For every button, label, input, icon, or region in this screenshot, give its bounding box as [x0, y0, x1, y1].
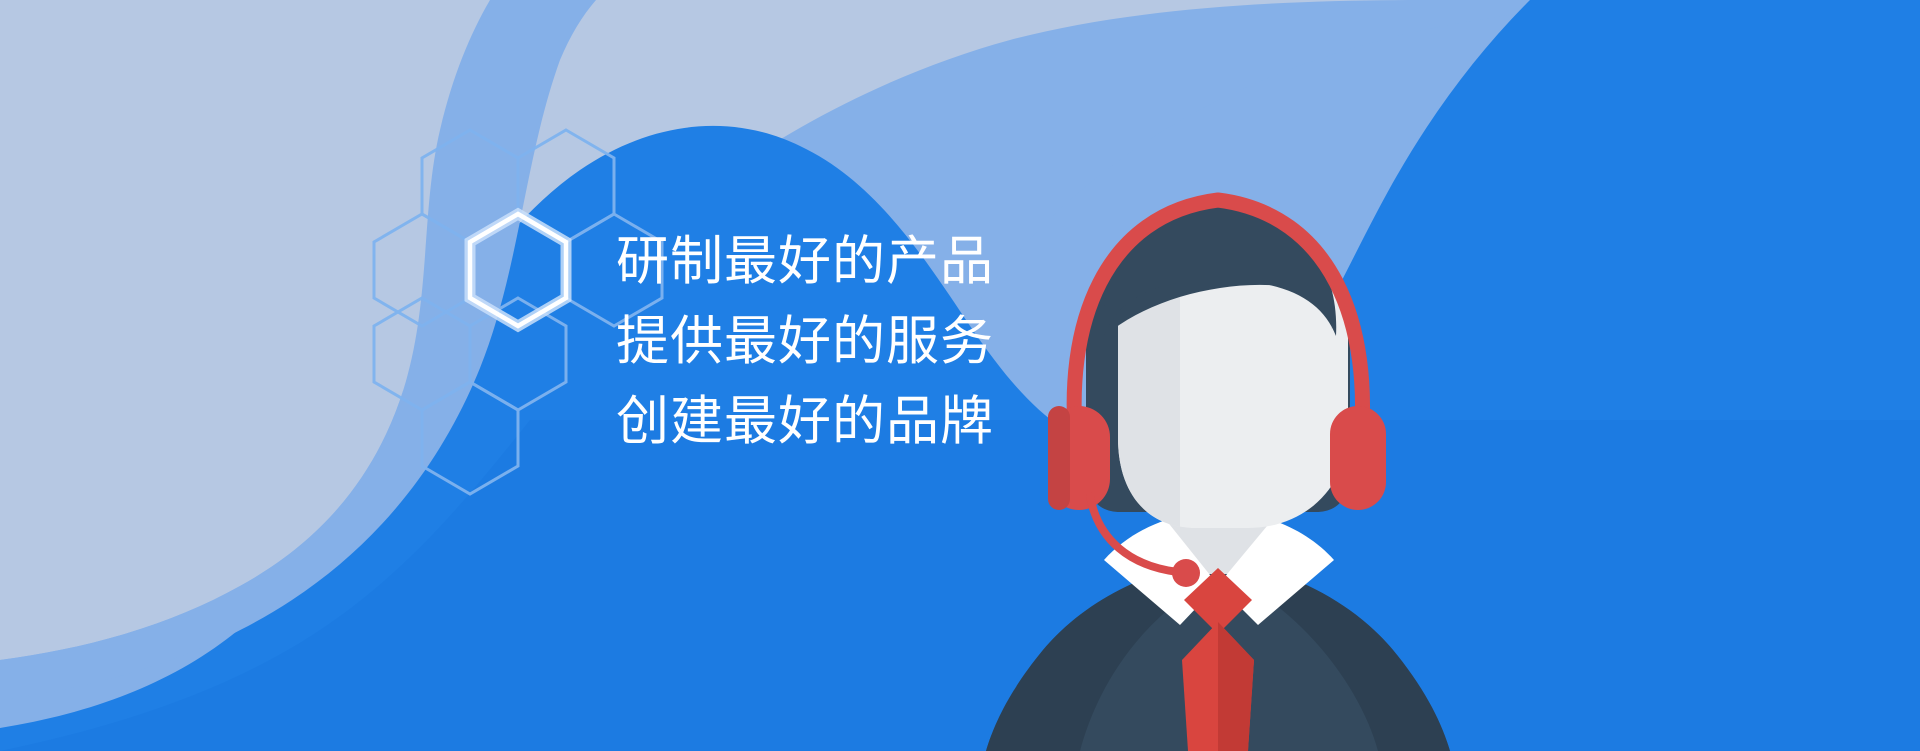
headline-line-3: 创建最好的品牌 — [585, 382, 1025, 462]
headline-block: 研制最好的产品 提供最好的服务 创建最好的品牌 — [585, 222, 1025, 462]
headset-mic-tip-icon — [1172, 559, 1200, 587]
headline-line-2: 提供最好的服务 — [585, 302, 1025, 382]
headset-earcup-right — [1330, 406, 1386, 510]
headline-line-1: 研制最好的产品 — [585, 222, 1025, 302]
hero-banner: 研制最好的产品 提供最好的服务 创建最好的品牌 — [0, 0, 1920, 751]
headset-earcup-left-shade — [1048, 406, 1070, 510]
